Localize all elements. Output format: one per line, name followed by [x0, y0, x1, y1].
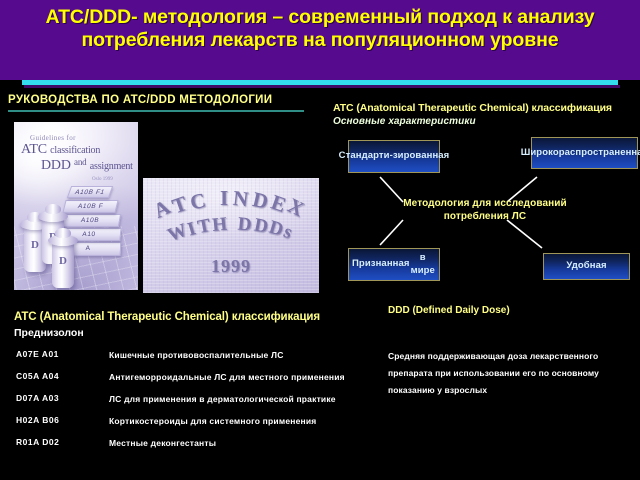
diagram-center-label: Методология для исследований потребления… — [385, 197, 585, 223]
book-step-3: A10B — [59, 214, 121, 227]
book-title-ddd: DDD — [41, 158, 71, 173]
atc-code: R01A D02 — [16, 437, 109, 449]
title-underline-shadow — [24, 85, 620, 88]
table-row: D07A A03 ЛС для применения в дерматологи… — [16, 393, 376, 405]
atc-index-cover-image: ATC INDEX WITH DDDs 1999 — [143, 178, 319, 293]
ddd-section-title: DDD (Defined Daily Dose) — [388, 305, 510, 316]
box-label-line: Удобная — [566, 260, 606, 273]
book-chess-piece-3: D — [52, 242, 74, 288]
left-section-header: РУКОВОДСТВА ПО ATC/DDD МЕТОДОЛОГИИ — [8, 94, 272, 106]
atc-classification-title: ATC (Anatomical Therapeutic Chemical) кл… — [14, 311, 384, 323]
table-row: H02A B06 Кортикостероиды для системного … — [16, 415, 376, 427]
book-step-2: A10B F — [62, 200, 118, 213]
feature-box-recognized[interactable]: Признаннаяв мире — [348, 248, 440, 281]
table-row: C05A A04 Антигеморроидальные ЛС для мест… — [16, 371, 376, 383]
atc-description: ЛС для применения в дерматологической пр… — [109, 393, 336, 405]
index-cover-line-3: 1999 — [143, 256, 319, 277]
book-title-classification: classification — [50, 145, 100, 156]
box-label-line: Широко — [521, 147, 559, 160]
book-step-1: A10B F1 — [67, 186, 113, 198]
feature-box-standardized[interactable]: Стандарти-зированная — [348, 140, 440, 173]
right-section-subheader: Основные характеристики — [333, 116, 633, 127]
book-title-atc: ATC — [21, 142, 47, 157]
feature-box-widespread[interactable]: Широкораспространенная — [531, 137, 638, 169]
page-title: ATC/DDD- методология – современный подхо… — [6, 6, 634, 52]
book-title-line-3: DDD and assignment — [41, 158, 138, 174]
left-section-rule — [8, 110, 304, 112]
book-piece-letter-3: D — [52, 255, 74, 267]
atc-description: Антигеморроидальные ЛС для местного прим… — [109, 371, 345, 383]
ddd-section-definition: Средняя поддерживающая доза лекарственно… — [388, 348, 636, 399]
index-cover-line-2: WITH DDDs — [143, 222, 319, 244]
atc-description: Местные деконгестанты — [109, 437, 216, 449]
table-row: A07E A01 Кишечные противовоспалительные … — [16, 349, 376, 361]
atc-code: D07A A03 — [16, 393, 109, 405]
right-section-header: ATC (Anatomical Therapeutic Chemical) кл… — [333, 102, 640, 114]
atc-description: Кишечные противовоспалительные ЛС — [109, 349, 284, 361]
title-underline — [22, 80, 618, 85]
box-label-line: распространенная — [559, 147, 640, 160]
atc-classification-drug: Преднизолон — [14, 327, 84, 339]
feature-box-convenient[interactable]: Удобная — [543, 253, 630, 280]
box-label-line: Признанная — [352, 258, 410, 271]
table-row: R01A D02 Местные деконгестанты — [16, 437, 376, 449]
atc-classification-table: A07E A01 Кишечные противовоспалительные … — [16, 349, 376, 459]
book-title-assignment: assignment — [90, 161, 133, 172]
book-imprint: Oslo 1999 — [92, 177, 113, 182]
box-label-line: зированная — [393, 150, 449, 163]
book-title-line-2: ATC classification — [21, 142, 138, 158]
book-title-line-1: Guidelines for — [30, 134, 76, 142]
guidelines-book-cover-image: A A10 A10B A10B F A10B F1 D D D Guidelin… — [14, 122, 138, 290]
atc-description: Кортикостероиды для системного применени… — [109, 415, 316, 427]
atc-code: C05A A04 — [16, 371, 109, 383]
title-banner: ATC/DDD- методология – современный подхо… — [0, 0, 640, 80]
atc-code: A07E A01 — [16, 349, 109, 361]
box-label-line: Стандарти- — [339, 150, 393, 163]
atc-code: H02A B06 — [16, 415, 109, 427]
book-title-and: and — [74, 157, 86, 167]
box-label-line: в мире — [410, 252, 436, 277]
slide-canvas: ATC/DDD- методология – современный подхо… — [0, 0, 640, 480]
